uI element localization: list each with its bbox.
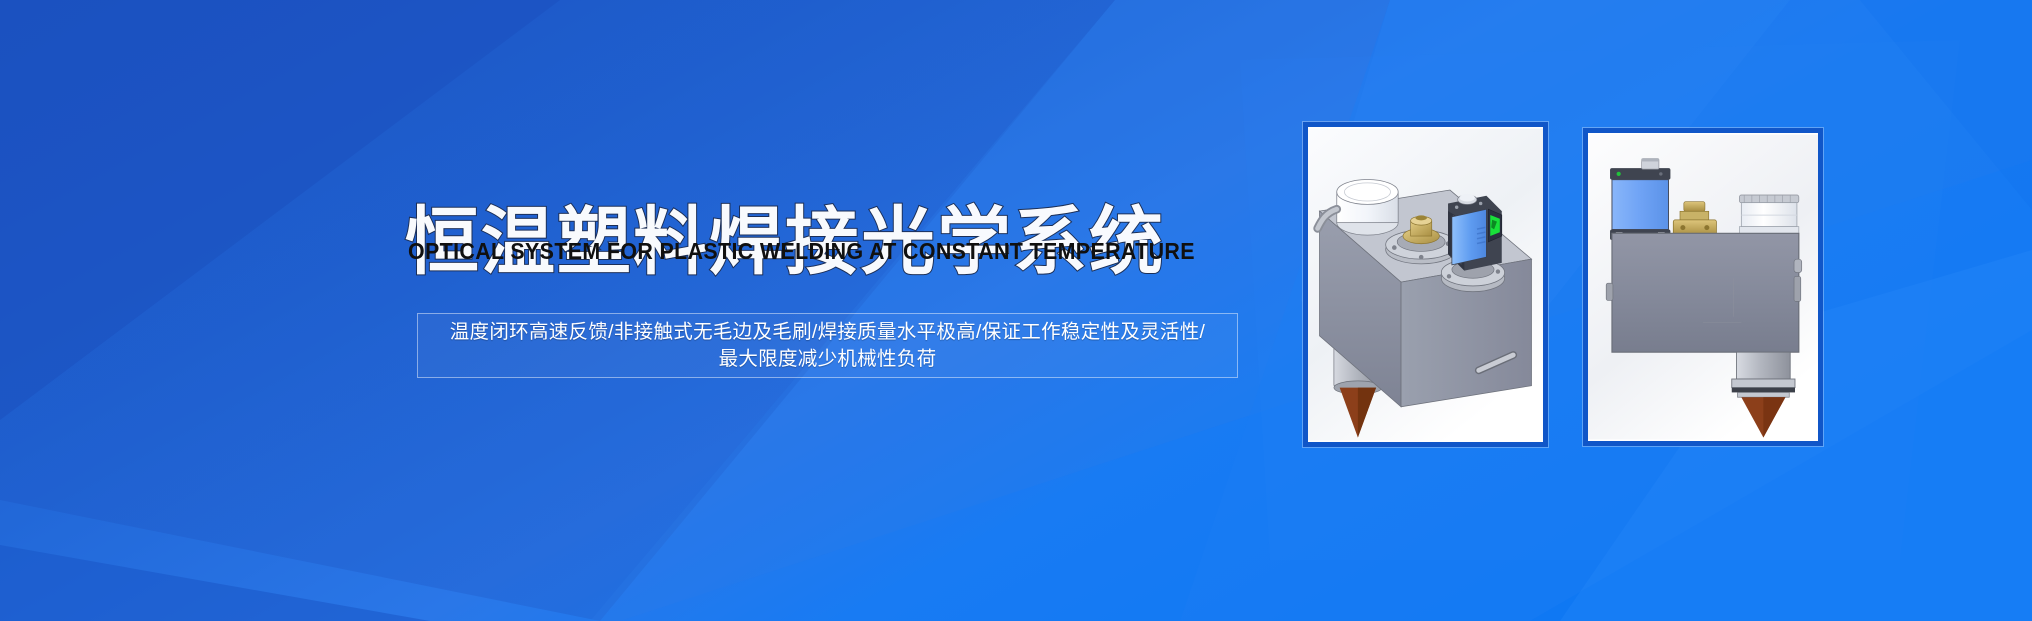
subtitle-text: 温度闭环高速反馈/非接触式无毛边及毛刷/焊接质量水平极高/保证工作稳定性及灵活性… <box>442 319 1213 373</box>
title-wrap: 恒温塑料焊接光学系统 OPTICAL SYSTEM FOR PLASTIC WE… <box>405 200 1250 292</box>
product-image-frame-front[interactable] <box>1583 128 1823 446</box>
subtitle-box: 温度闭环高速反馈/非接触式无毛边及毛刷/焊接质量水平极高/保证工作稳定性及灵活性… <box>417 313 1238 378</box>
product-render-front <box>1588 133 1818 441</box>
welding-head-body-front <box>1606 233 1802 352</box>
headline-block: 恒温塑料焊接光学系统 OPTICAL SYSTEM FOR PLASTIC WE… <box>405 200 1250 292</box>
product-render-isometric <box>1308 127 1543 442</box>
page-title-english: OPTICAL SYSTEM FOR PLASTIC WELDING AT CO… <box>408 240 1195 263</box>
promo-banner: 恒温塑料焊接光学系统 OPTICAL SYSTEM FOR PLASTIC WE… <box>0 0 2032 621</box>
pyrometer-sensor-module-isometric <box>1441 194 1504 292</box>
cylinder-module-front <box>1739 195 1798 233</box>
product-image-frame-isometric[interactable] <box>1303 122 1548 447</box>
